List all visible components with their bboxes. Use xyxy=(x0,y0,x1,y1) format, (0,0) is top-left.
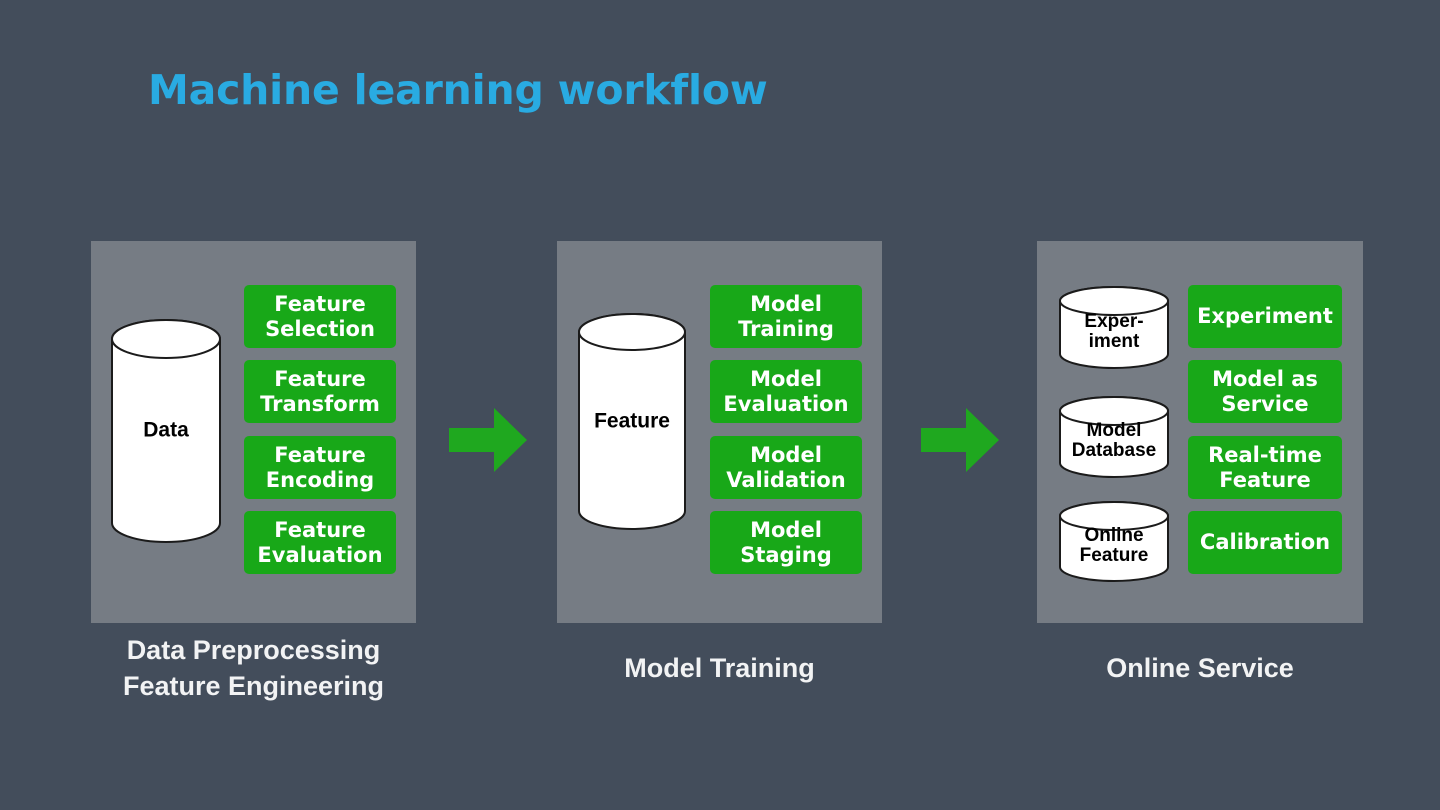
data-store-cylinder-feature: Feature xyxy=(577,312,687,531)
step-box-calibration[interactable]: Calibration xyxy=(1188,511,1342,574)
stage-caption-data-preprocessing: Data Preprocessing Feature Engineering xyxy=(91,633,416,705)
right-arrow-icon-stage1-to-stage2 xyxy=(449,408,527,472)
stage-caption-online-service: Online Service xyxy=(1037,651,1363,687)
cylinder-icon xyxy=(577,312,687,531)
data-store-cylinder-experiment: Exper- iment xyxy=(1058,285,1170,370)
cylinder-icon xyxy=(1058,285,1170,370)
page-title: Machine learning workflow xyxy=(148,66,768,114)
step-box-model-training[interactable]: Model Training xyxy=(710,285,862,348)
step-box-real-time-feature[interactable]: Real-time Feature xyxy=(1188,436,1342,499)
data-store-cylinder-data: Data xyxy=(110,318,222,544)
step-box-feature-evaluation[interactable]: Feature Evaluation xyxy=(244,511,396,574)
right-arrow-icon xyxy=(449,408,527,472)
step-box-feature-selection[interactable]: Feature Selection xyxy=(244,285,396,348)
cylinder-icon xyxy=(110,318,222,544)
cylinder-icon xyxy=(1058,395,1170,479)
right-arrow-icon xyxy=(921,408,999,472)
data-store-cylinder-online-feature: Online Feature xyxy=(1058,500,1170,583)
step-box-model-as-service[interactable]: Model as Service xyxy=(1188,360,1342,423)
cylinder-icon xyxy=(1058,500,1170,583)
step-box-experiment[interactable]: Experiment xyxy=(1188,285,1342,348)
step-box-feature-encoding[interactable]: Feature Encoding xyxy=(244,436,396,499)
right-arrow-icon-stage2-to-stage3 xyxy=(921,408,999,472)
data-store-cylinder-model-database: Model Database xyxy=(1058,395,1170,479)
step-box-feature-transform[interactable]: Feature Transform xyxy=(244,360,396,423)
step-box-model-validation[interactable]: Model Validation xyxy=(710,436,862,499)
slide-canvas: Machine learning workflow Data Feature S… xyxy=(0,0,1440,810)
step-box-model-evaluation[interactable]: Model Evaluation xyxy=(710,360,862,423)
step-box-model-staging[interactable]: Model Staging xyxy=(710,511,862,574)
stage-caption-model-training: Model Training xyxy=(557,651,882,687)
